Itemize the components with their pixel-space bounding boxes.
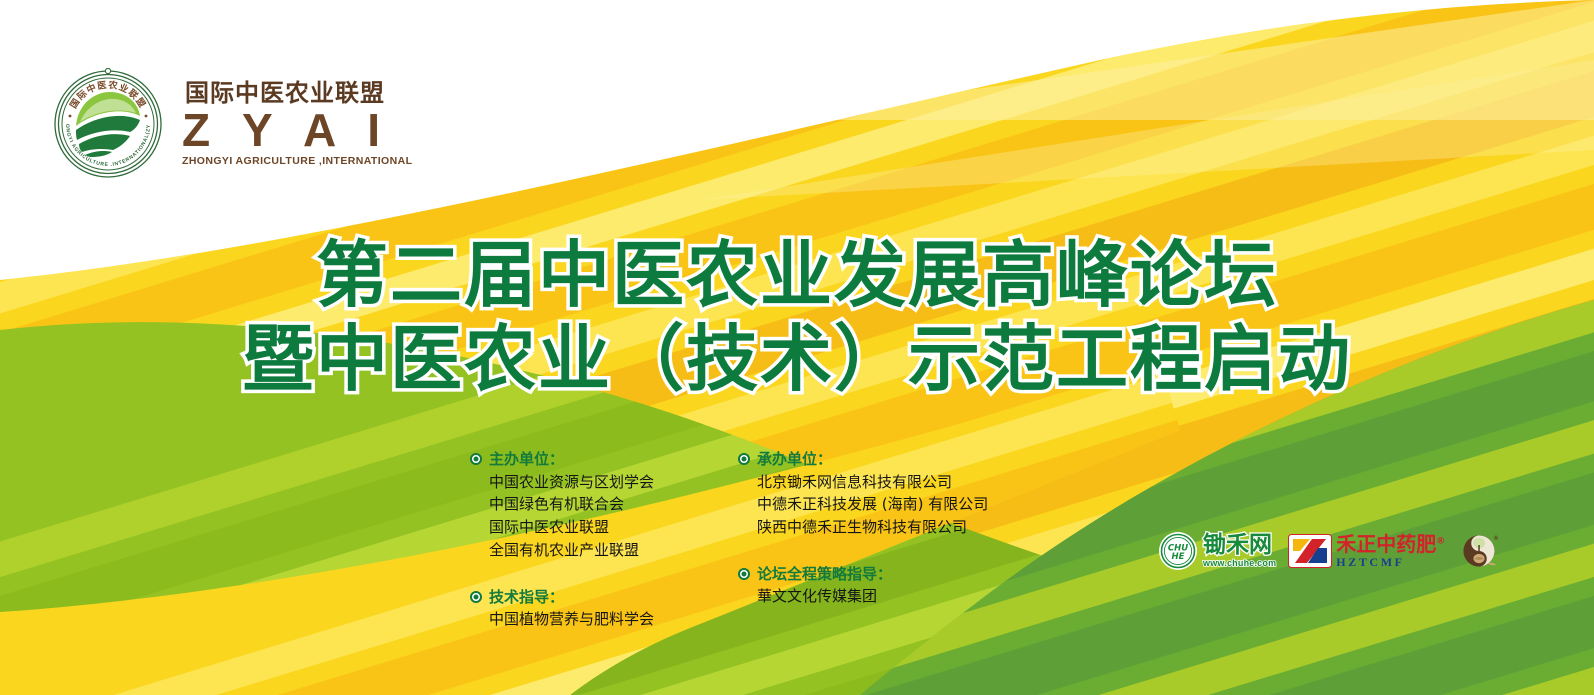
list-item: 華文文化传媒集团 (757, 585, 988, 608)
credit-heading: 主办单位： (489, 448, 564, 471)
sponsor-brown: ® (1459, 530, 1501, 572)
credit-heading: 承办单位： (757, 448, 832, 471)
svg-text:HE: HE (1172, 552, 1185, 562)
registered-icon: ® (1494, 535, 1499, 542)
bullseye-icon (738, 568, 750, 580)
credit-heading-row: 承办单位： (738, 448, 988, 471)
poster-canvas: 国际中医农业联盟 ZHONGYI AGRICULTURE .INTERNATIO… (0, 0, 1594, 695)
list-item: 陕西中德禾正生物科技有限公司 (757, 516, 988, 539)
chuhe-url: www.chuhe.com (1203, 559, 1276, 568)
wordmark-en: ZHONGYI AGRICULTURE ,INTERNATIONAL (182, 156, 412, 167)
sponsor-logos: CHU HE 锄禾网 www.chuhe.com 禾正中药肥® (1158, 530, 1501, 572)
hztcmf-name-en: HZTCMF (1336, 556, 1445, 568)
credit-items: 中国植物营养与肥料学会 (489, 608, 654, 631)
credit-group: 主办单位： 中国农业资源与区划学会 中国绿色有机联合会 国际中医农业联盟 全国有… (470, 448, 654, 562)
credits-right-column: 承办单位： 北京锄禾网信息科技有限公司 中德禾正科技发展 (海南) 有限公司 陕… (738, 448, 988, 612)
list-item: 全国有机农业产业联盟 (489, 539, 654, 562)
credits-block: 主办单位： 中国农业资源与区划学会 中国绿色有机联合会 国际中医农业联盟 全国有… (470, 448, 988, 635)
credit-items: 中国农业资源与区划学会 中国绿色有机联合会 国际中医农业联盟 全国有机农业产业联… (489, 471, 654, 562)
bullseye-icon (470, 591, 482, 603)
wordmark-cn: 国际中医农业联盟 (185, 82, 412, 106)
zyai-circular-seal-icon: 国际中医农业联盟 ZHONGYI AGRICULTURE .INTERNATIO… (52, 68, 164, 180)
hztcmf-text: 禾正中药肥® HZTCMF (1336, 534, 1445, 568)
chuhe-name: 锄禾网 (1203, 534, 1276, 557)
sponsor-chuhe: CHU HE 锄禾网 www.chuhe.com (1158, 531, 1276, 571)
wordmark: 国际中医农业联盟 Z Y A I ZHONGYI AGRICULTURE ,IN… (182, 82, 412, 166)
credit-heading-row: 技术指导： (470, 586, 654, 609)
sponsor-hztcmf: 禾正中药肥® HZTCMF (1288, 534, 1445, 568)
list-item: 中国植物营养与肥料学会 (489, 608, 654, 631)
wordmark-acronym: Z Y A I (182, 109, 412, 153)
bullseye-icon (470, 453, 482, 465)
list-item: 国际中医农业联盟 (489, 516, 654, 539)
credit-group: 承办单位： 北京锄禾网信息科技有限公司 中德禾正科技发展 (海南) 有限公司 陕… (738, 448, 988, 539)
credit-group: 论坛全程策略指导： 華文文化传媒集团 (738, 563, 988, 608)
credit-heading-row: 主办单位： (470, 448, 654, 471)
list-item: 中国绿色有机联合会 (489, 493, 654, 516)
credit-heading: 论坛全程策略指导： (757, 563, 892, 586)
chuhe-text: 锄禾网 www.chuhe.com (1203, 534, 1276, 568)
bullseye-icon (738, 453, 750, 465)
credit-group: 技术指导： 中国植物营养与肥料学会 (470, 586, 654, 631)
list-item: 中国农业资源与区划学会 (489, 471, 654, 494)
registered-icon: ® (1436, 536, 1445, 546)
brown-tree-circle-logo-icon: ® (1459, 530, 1501, 572)
credit-items: 華文文化传媒集团 (757, 585, 988, 608)
list-item: 北京锄禾网信息科技有限公司 (757, 471, 988, 494)
credit-items: 北京锄禾网信息科技有限公司 中德禾正科技发展 (海南) 有限公司 陕西中德禾正生… (757, 471, 988, 539)
credits-left-column: 主办单位： 中国农业资源与区划学会 中国绿色有机联合会 国际中医农业联盟 全国有… (470, 448, 654, 635)
hztcmf-z-mark-icon (1288, 534, 1332, 568)
credit-heading: 技术指导： (489, 586, 564, 609)
chuhe-circle-logo-icon: CHU HE (1158, 531, 1198, 571)
list-item: 中德禾正科技发展 (海南) 有限公司 (757, 493, 988, 516)
organization-logo: 国际中医农业联盟 ZHONGYI AGRICULTURE .INTERNATIO… (52, 68, 412, 180)
hztcmf-name-cn: 禾正中药肥® (1336, 534, 1445, 554)
credit-heading-row: 论坛全程策略指导： (738, 563, 988, 586)
